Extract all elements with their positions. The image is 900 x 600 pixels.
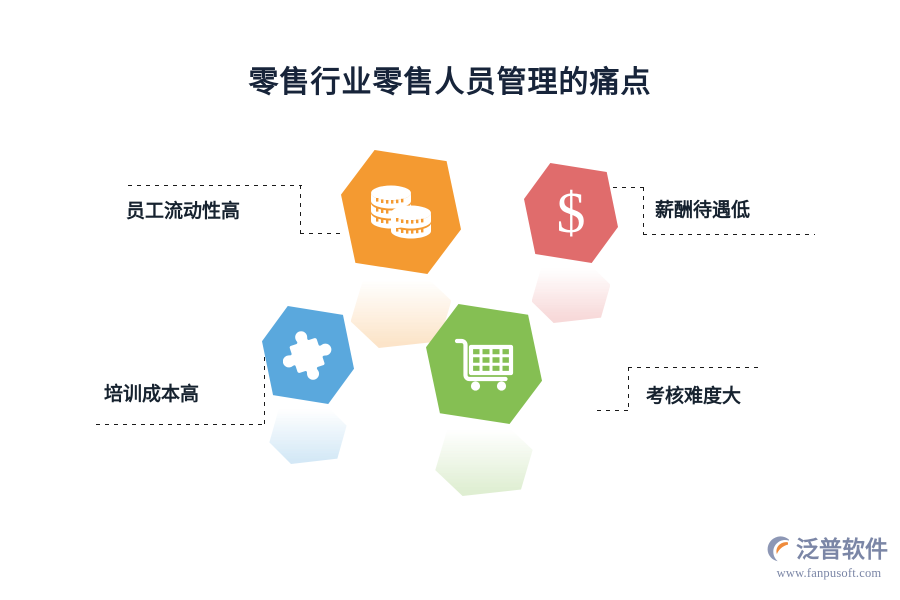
svg-text:$: $ (557, 183, 586, 243)
callout-training-line-bottom (96, 424, 265, 425)
hex-shape-turnover (341, 150, 461, 274)
slide-canvas: 零售行业零售人员管理的痛点 (0, 0, 900, 600)
callout-appraisal-line-bottom (597, 410, 629, 411)
brand-logo[interactable]: 泛普软件 www.fanpusoft.com (766, 536, 892, 588)
fanpu-logo-icon (766, 536, 792, 562)
callout-training-label: 培训成本高 (104, 379, 199, 406)
hex-reflection-salary (532, 263, 611, 323)
coins-stack-icon (367, 181, 435, 243)
hex-node-training[interactable] (262, 306, 354, 404)
callout-appraisal-line-top (628, 367, 761, 368)
hex-reflection-appraisal (435, 424, 532, 496)
hex-node-appraisal[interactable] (426, 304, 542, 424)
brand-logo-row: 泛普软件 (766, 536, 892, 562)
shopping-cart-icon (453, 336, 515, 392)
hex-node-turnover[interactable] (341, 150, 461, 274)
callout-appraisal-label: 考核难度大 (646, 381, 741, 408)
brand-url: www.fanpusoft.com (766, 566, 892, 581)
brand-name: 泛普软件 (796, 538, 888, 561)
callout-salary-line-left (643, 187, 644, 235)
hex-node-salary[interactable]: $ (524, 163, 618, 263)
hex-shape-appraisal (426, 304, 542, 424)
callout-salary-label: 薪酬待遇低 (655, 195, 750, 222)
puzzle-piece-icon (283, 330, 333, 380)
callout-turnover-line-top (128, 185, 302, 186)
callout-appraisal-line-left (628, 367, 629, 411)
hex-shape-training (262, 306, 354, 404)
callout-salary-line-bottom (643, 234, 815, 235)
callout-turnover-label: 员工流动性高 (126, 196, 240, 223)
callout-turnover-line-bottom (300, 233, 344, 234)
callout-salary-line-top (613, 187, 645, 188)
hex-shape-salary: $ (524, 163, 618, 263)
hex-reflection-training (269, 404, 346, 464)
callout-turnover-line-right (300, 185, 301, 234)
page-title: 零售行业零售人员管理的痛点 (0, 57, 900, 101)
callout-training-line-right (264, 357, 265, 425)
dollar-sign-icon: $ (549, 183, 593, 243)
